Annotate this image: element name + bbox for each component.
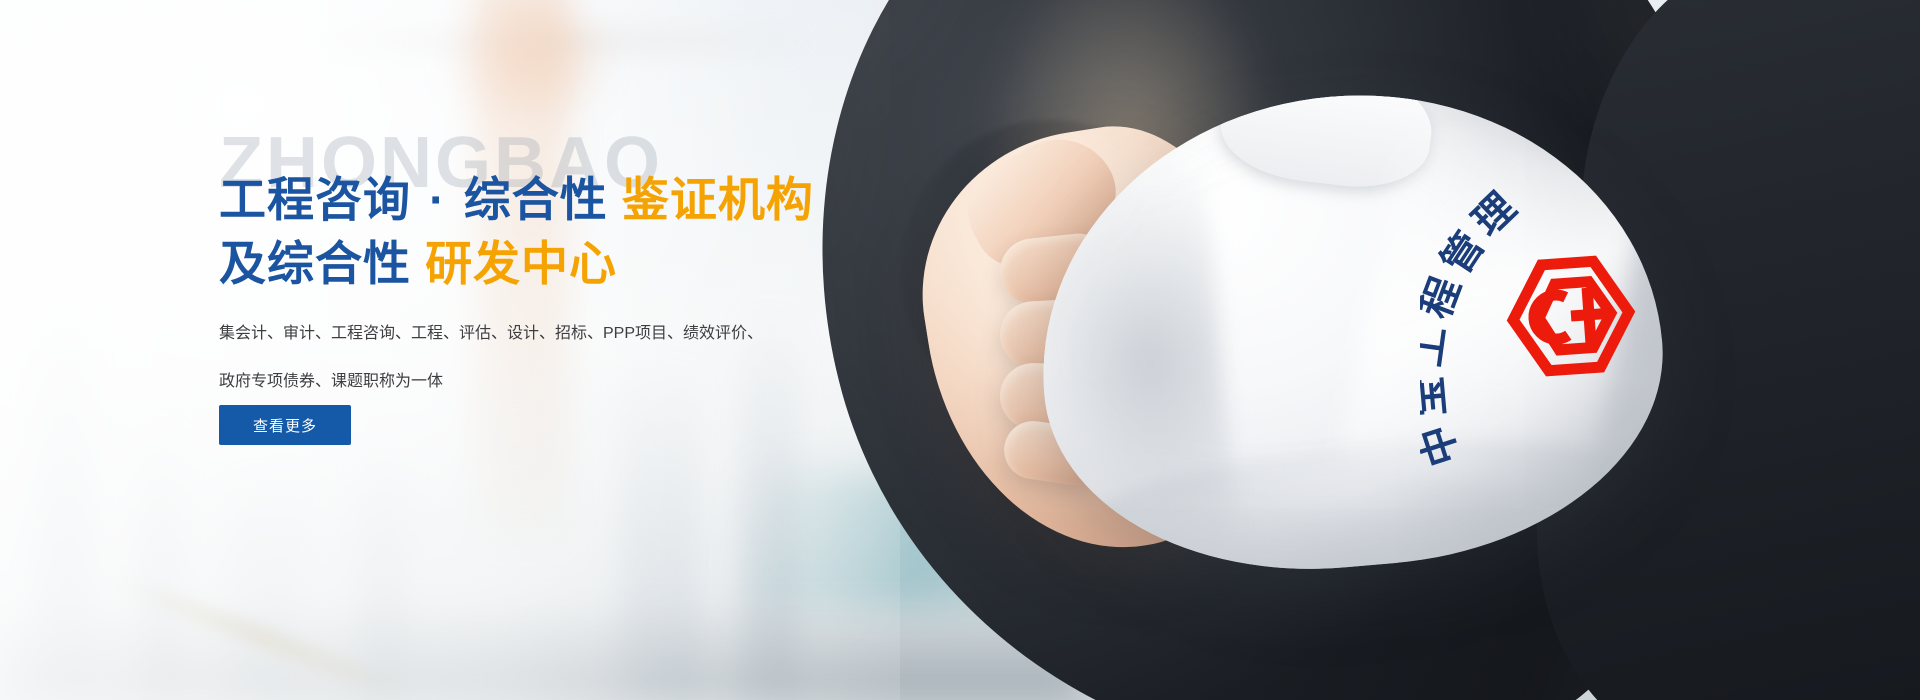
headline-line1-part1: 工程咨询	[219, 173, 411, 226]
headline-line2-part1: 及综合性	[219, 237, 411, 290]
headline-separator-icon: ·	[425, 173, 450, 226]
headline-line-2: 及综合性 研发中心	[219, 232, 919, 296]
description-line-2: 政府专项债券、课题职称为一体	[219, 358, 819, 406]
headline-line2-part2: 研发中心	[425, 237, 617, 290]
zhongbao-hexagon-logo-icon	[1501, 251, 1641, 382]
description-line-1: 集会计、审计、工程咨询、工程、评估、设计、招标、PPP项目、绩效评价、	[219, 310, 819, 358]
hero-banner: 中宝工程管理 ZHONGBAO 工程咨询 · 综合性 鉴证机构	[0, 0, 1920, 700]
view-more-button[interactable]: 查看更多	[219, 405, 351, 445]
headline-line1-part2: 综合性	[464, 173, 608, 226]
headline-line1-part3: 鉴证机构	[622, 173, 814, 226]
description: 集会计、审计、工程咨询、工程、评估、设计、招标、PPP项目、绩效评价、 政府专项…	[219, 310, 819, 406]
headline: 工程咨询 · 综合性 鉴证机构 及综合性 研发中心	[219, 168, 919, 296]
hero-content: ZHONGBAO 工程咨询 · 综合性 鉴证机构 及综合性 研发中心 集会计、审…	[219, 0, 919, 700]
headline-line-1: 工程咨询 · 综合性 鉴证机构	[219, 168, 919, 232]
